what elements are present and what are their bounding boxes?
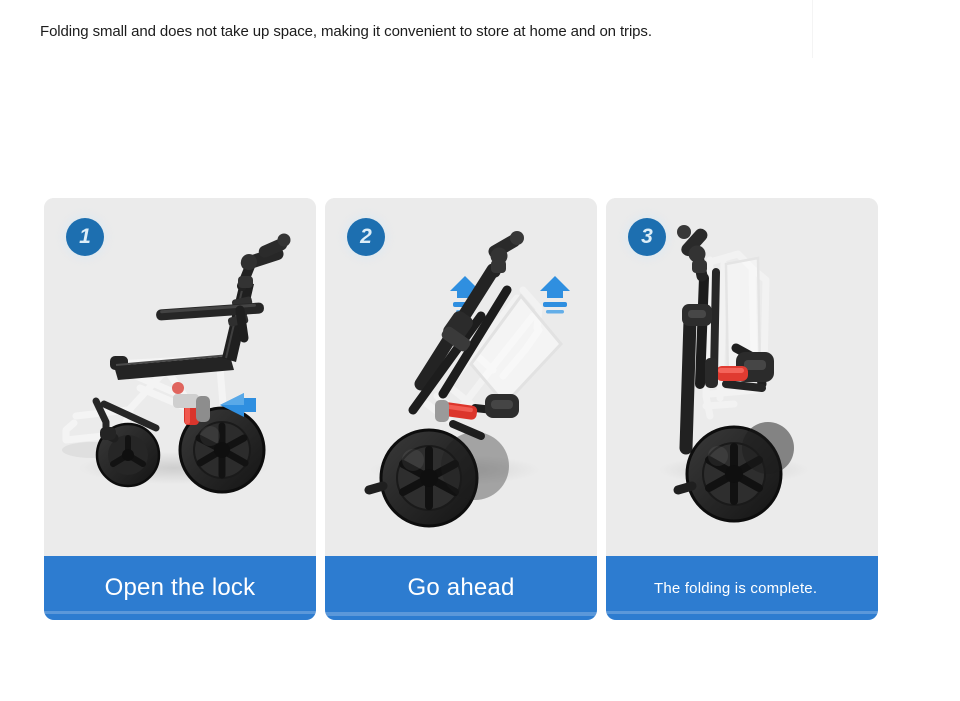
step-caption-2: Go ahead <box>325 556 597 620</box>
step-caption-text-2: Go ahead <box>407 574 514 602</box>
caption-underline-1 <box>44 611 316 614</box>
caption-underline-2 <box>325 612 597 616</box>
blue-up-arrow-right <box>540 276 570 314</box>
page-edge-artifact <box>812 0 813 58</box>
page-title: Folding small and does not take up space… <box>40 22 652 42</box>
step-caption-text-1: Open the lock <box>105 574 256 602</box>
step-caption-text-3: The folding is complete. <box>654 578 817 599</box>
step-badge-3: 3 <box>628 218 666 256</box>
step-badge-2: 2 <box>347 218 385 256</box>
step-caption-1: Open the lock <box>44 556 316 620</box>
folding-steps-gallery: 1 Open the lock <box>44 198 876 620</box>
step-card-1[interactable]: 1 Open the lock <box>44 198 316 620</box>
caption-underline-3 <box>606 611 878 614</box>
step-card-3[interactable]: 3 The folding is complete. <box>606 198 878 620</box>
step-badge-1: 1 <box>66 218 104 256</box>
step-caption-3: The folding is complete. <box>606 556 878 620</box>
step-card-2[interactable]: 2 Go ahead <box>325 198 597 620</box>
